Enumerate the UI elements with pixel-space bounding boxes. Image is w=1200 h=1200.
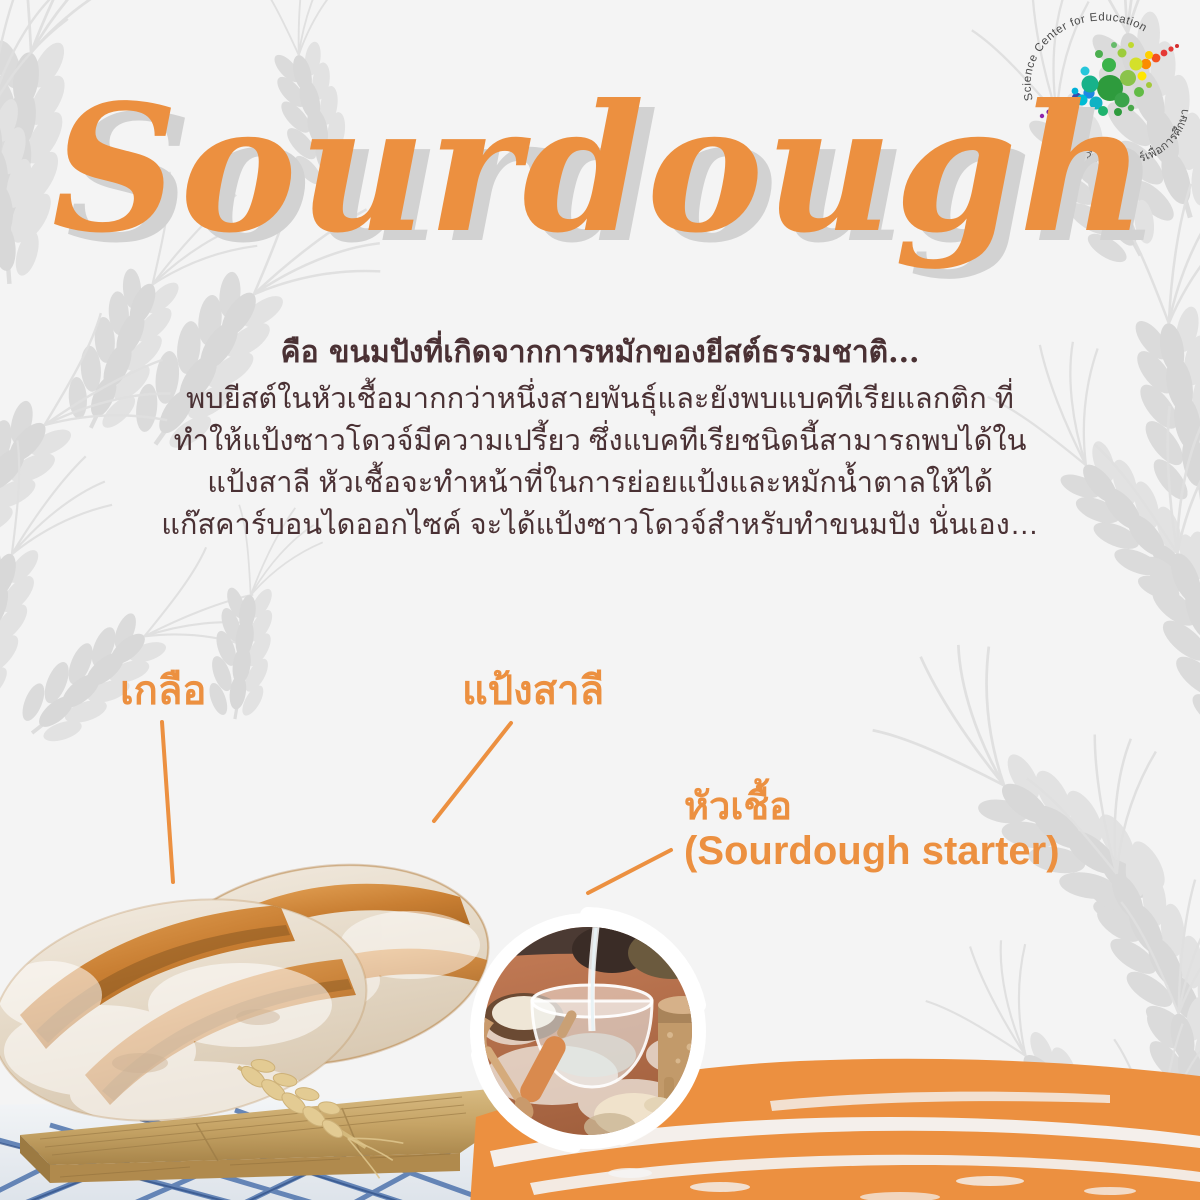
callout-label-starter-english: (Sourdough starter) [684,829,1060,873]
leader-line-starter [588,850,671,893]
callout-label-flour: แป้งสาลี [462,667,604,715]
description-body: พบยีสต์ในหัวเชื้อมากกว่าหนึ่งสายพันธุ์แล… [110,378,1090,546]
description-heading: คือ ขนมปังที่เกิดจากการหมักของยีสต์ธรรมช… [110,332,1090,374]
poster-title: Sourdough Sourdough [0,62,1200,302]
callout-label-starter-thai: หัวเชื้อ [684,785,1060,829]
starter-photo-content [462,905,714,1157]
sourdough-infographic-poster: Science Center for Education ศูนย์วิทยาศ… [0,0,1200,1200]
description-line: แป้งสาลี หัวเชื้อจะทำหน้าที่ในการย่อยแป้… [110,462,1090,504]
page-title: Sourdough [0,62,1200,277]
callout-label-starter: หัวเชื้อ (Sourdough starter) [684,785,1060,873]
description-line: พบยีสต์ในหัวเชื้อมากกว่าหนึ่งสายพันธุ์แล… [110,378,1090,420]
description-line: ทำให้แป้งซาวโดวจ์มีความเปรี้ยว ซึ่งแบคที… [110,420,1090,462]
description-line: แก๊สคาร์บอนไดออกไซค์ จะได้แป้งซาวโดวจ์สำ… [110,504,1090,546]
sourdough-starter-circle-photo [462,905,714,1157]
callout-label-salt: เกลือ [120,667,206,715]
description-block: คือ ขนมปังที่เกิดจากการหมักของยีสต์ธรรมช… [110,332,1090,546]
